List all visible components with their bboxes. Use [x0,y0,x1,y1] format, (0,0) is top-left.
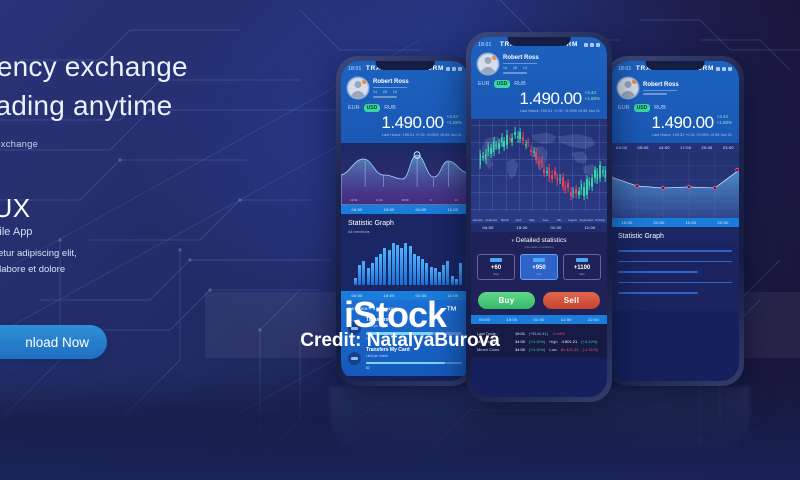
stat-sep-month: Sep [480,272,512,276]
bar-21 [438,272,441,285]
bar-1 [354,278,357,285]
gridline-v-6 [559,119,560,211]
candle-October-2 [605,166,607,182]
bar-8 [383,248,386,285]
right-axis-bottom-1: 01:00 [643,218,675,227]
right-line-4 [618,282,732,284]
month-label-October: October [594,218,607,222]
candle-April-4 [530,145,532,155]
candle-May-4 [543,165,545,177]
stat-cap-icon [533,258,545,262]
candle-March-3 [514,127,516,139]
bar-10 [392,243,395,285]
avatar-body-icon [621,91,635,98]
payment-row-my-card-slider[interactable] [366,362,462,365]
right-area-fill [611,170,739,218]
left-user-line-2 [373,96,397,98]
right-axis-top-5: 23:00 [718,143,739,152]
center-last-hours: Last Hours: 199.31 +0.31 +0.05% 19:55 Ja… [478,109,600,113]
candle-May-3 [541,156,543,168]
month-label-March: March [498,218,512,222]
stat-cap-icon [576,258,588,262]
candle-February-0 [493,137,495,156]
left-currency-switch[interactable]: EUR USD RUB [348,104,462,112]
right-axis-bottom-3: 22:00 [707,218,739,227]
candle-July-2 [565,181,567,194]
right-line-3 [618,271,698,273]
candle-September-2 [591,174,593,192]
stat-nov-value: +1100 [566,265,598,271]
bar-13 [404,243,407,285]
candle-January-4 [490,144,492,158]
bar-23 [446,261,449,285]
right-user-name: Robert Ross [643,82,732,88]
right-currency-switch[interactable]: EUR USD RUB [618,104,732,112]
center-user-line-1 [503,63,537,65]
bar-11 [396,245,399,285]
month-label-January: January [471,218,485,222]
card-icon [348,352,361,365]
right-price-block: 1.490.00 +3.44 +1.88% [618,114,732,131]
stat-card-sep[interactable]: +60 Sep [477,254,515,280]
candle-April-3 [527,138,529,147]
left-axis-top-3: 11:00 [437,205,469,214]
candle-January-2 [485,149,487,163]
bar-14 [409,246,412,285]
bar-17 [421,259,424,285]
right-price-change: +3.44 +1.88% [717,114,732,125]
stat-card-nov[interactable]: +1100 Nov [563,254,601,280]
phone-right-notch [646,61,705,70]
poster-canvas: urrency exchange , trading anytime ons f… [0,0,800,480]
center-price-block: 1.490.00 +3.44 +1.88% [478,90,600,107]
candle-July-3 [567,179,569,192]
tick-14[interactable]: 14 [503,66,507,70]
center-user-line-2 [503,72,527,74]
center-axis-2: 01:00 [539,223,573,232]
center-axis-3: 11:00 [573,223,607,232]
stat-oct-month: Oct [523,272,555,276]
bar-4 [367,268,370,285]
candle-August-4 [583,182,585,200]
left-wave-chart: 12:00 11:11 16:00 9 14 [341,143,469,205]
right-section-title: Statistic Graph [618,233,732,240]
right-header: 18:01 TRADING PLATFORM Rober [611,61,739,143]
center-change-pct: +1.88% [585,96,600,102]
lorem-line-2: didunt ut labore et dolore [0,262,230,278]
tick-1d[interactable]: 1d [523,66,527,70]
month-label-June: June [539,218,553,222]
wave-label-0: 12:00 [341,198,367,202]
istock-brand: iStock [344,294,446,335]
lorem-line-1: , consectetur adipiscing elit, [0,246,230,262]
right-axis-top-0: 04:00 [611,143,632,152]
left-price-change: +3.44 +1.88% [447,114,462,125]
stat-card-oct[interactable]: +950 Oct [520,254,558,280]
left-bar-chart [348,239,462,285]
candle-August-2 [578,187,580,199]
left-wave-marker-labels: 12:00 11:11 16:00 9 14 [341,198,469,202]
avatar-status-dot [362,79,367,84]
candle-April-2 [525,140,527,148]
center-axis-chart: 04:00 15:00 01:00 11:00 [471,223,607,232]
left-section-sub: All mentions [348,229,462,234]
tick-28[interactable]: 28 [383,90,387,94]
phone-center-notch [508,37,571,46]
avatar-head-icon [625,81,632,88]
month-label-May: May [525,218,539,222]
currency-rub[interactable]: RUB [654,105,666,111]
candle-March-4 [517,131,519,142]
center-axis-1: 15:00 [505,223,539,232]
avatar-head-icon [355,81,362,88]
right-marker-2 [661,186,664,189]
left-axis-top-1: 15:00 [373,205,405,214]
uiux-subtitle: Mobile App [0,226,32,238]
left-user-name: Robert Ross [373,79,462,85]
month-label-April: April [512,218,526,222]
gridline-v-1 [492,119,493,211]
candle-October-0 [599,161,601,182]
marketing-copy: urrency exchange , trading anytime ons f… [0,48,262,150]
candle-July-1 [562,173,564,191]
candle-June-3 [554,167,556,180]
candle-May-0 [533,147,535,158]
left-user-ticks[interactable]: 14 28 1d [373,90,462,94]
bar-19 [430,267,433,285]
avatar-body-icon [351,91,365,98]
bar-16 [417,256,420,285]
candle-May-1 [535,148,537,164]
right-axis-bottom: 15:00 01:00 11:00 22:00 [611,218,739,227]
bar-5 [371,263,374,285]
trademark-icon: ™ [446,305,456,317]
detailed-statistics-sub: Information to analytics [477,245,601,249]
month-label-July: July [552,218,566,222]
candle-January-1 [482,152,484,161]
chevron-down-icon[interactable]: ▾ [512,238,515,244]
lorem-paragraph: , consectetur adipiscing elit, didunt ut… [0,246,230,277]
candle-April-1 [522,132,524,144]
candle-September-0 [586,175,588,199]
currency-usd-selected[interactable]: USD [634,104,651,112]
tick-14[interactable]: 14 [373,90,377,94]
detailed-statistics-header[interactable]: ▾ Detailed statistics [477,237,601,244]
right-statistic-section: Statistic Graph [611,227,739,242]
candle-June-0 [546,167,548,176]
candle-August-3 [581,180,583,195]
right-price-value: 1.490.00 [651,114,713,131]
bar-6 [375,257,378,285]
left-change-pct: +1.88% [447,120,462,126]
avatar-status-dot [632,79,637,84]
currency-eur[interactable]: EUR [478,81,490,87]
candle-June-4 [557,173,559,186]
bar-25 [455,279,458,285]
candle-June-1 [549,164,551,182]
center-user-row[interactable]: Robert Ross 14 28 1d [478,54,600,74]
uiux-block: I/UX Mobile App [0,193,32,238]
avatar[interactable] [478,54,498,74]
left-axis-top-2: 01:00 [405,205,437,214]
stat-oct-value: +950 [523,265,555,271]
gridline-v-5 [546,119,547,211]
bar-24 [451,276,454,285]
headline-line-2: , trading anytime [0,87,262,126]
avatar-body-icon [481,67,495,74]
currency-rub[interactable]: RUB [384,105,396,111]
right-axis-top-1: 09:00 [632,143,653,152]
currency-eur[interactable]: EUR [618,105,630,111]
right-change-pct: +1.88% [717,120,732,126]
right-marker-1 [635,184,638,187]
month-label-February: February [485,218,499,222]
center-user-name: Robert Ross [503,55,600,61]
bar-15 [413,254,416,285]
candle-September-3 [594,166,596,183]
right-axis-bottom-2: 11:00 [675,218,707,227]
payment-row-my-card-desc: Limit per month [366,354,462,358]
tick-1d[interactable]: 1d [393,90,397,94]
payment-row-my-card-value: 82 [366,366,462,370]
avatar-status-dot [492,55,497,60]
center-header: 18:01 TRADING PLATFORM Rober [471,37,607,119]
candle-September-1 [589,177,591,190]
bar-18 [425,263,428,285]
center-user-ticks[interactable]: 14 28 1d [503,66,600,70]
wave-label-3: 9 [418,198,444,202]
left-price-value: 1.490.00 [381,114,443,131]
bar-3 [362,261,365,285]
headline-line-1: urrency exchange [0,48,262,87]
left-last-hours: Last Hours: 199.31 +0.31 +0.05% 19:55 Ja… [348,133,462,137]
right-marker-4 [713,186,716,189]
world-map-watermark [477,125,603,182]
month-label-August: August [566,218,580,222]
center-price-value: 1.490.00 [519,90,581,107]
candle-February-3 [501,133,503,147]
left-user-line-1 [373,87,407,89]
candle-March-1 [509,134,511,143]
bar-12 [400,248,403,285]
center-detailed-statistics: ▾ Detailed statistics Information to ana… [471,232,607,286]
candle-July-4 [570,187,572,200]
candle-April-0 [519,128,521,143]
bar-20 [434,268,437,285]
candle-August-1 [575,185,577,198]
right-line-2 [618,261,732,263]
currency-usd-selected[interactable]: USD [364,104,381,112]
bar-26 [459,263,462,285]
bar-22 [442,265,445,285]
currency-rub[interactable]: RUB [514,81,526,87]
right-marker-3 [687,185,690,188]
left-section-title: Statistic Graph [348,220,462,227]
right-user-row[interactable]: Robert Ross [618,78,732,98]
candle-June-2 [551,170,553,183]
right-axis-top-2: 14:00 [654,143,675,152]
right-axis-top-4: 20:00 [696,143,717,152]
detailed-statistics-title: Detailed statistics [516,237,567,244]
right-axis-top: 04:00 09:00 14:00 17:00 20:00 23:00 [611,143,739,152]
center-currency-switch[interactable]: EUR USD RUB [478,80,600,88]
stat-cards: +60 Sep +950 Oct +1100 Nov [477,254,601,280]
left-axis-top-0: 04:00 [341,205,373,214]
candle-February-1 [495,141,497,150]
bar-9 [388,250,391,285]
avatar[interactable] [348,78,368,98]
candle-March-2 [511,133,513,146]
currency-usd-selected[interactable]: USD [494,80,511,88]
right-axis-top-3: 17:00 [675,143,696,152]
right-user-line-2 [643,93,667,95]
credit-watermark: Credit: NatalyaBurova [0,330,800,352]
candle-May-2 [538,157,540,169]
bar-2 [358,265,361,285]
candle-July-0 [559,174,561,183]
left-statistic-section: Statistic Graph All mentions [341,214,469,291]
left-axis-top: 04:00 15:00 01:00 11:00 [341,205,469,214]
center-candlestick-chart: JanuaryFebruaryMarchAprilMayJuneJulyAugu… [471,119,607,223]
candle-February-2 [498,139,500,153]
bar-7 [379,254,382,285]
right-axis-bottom-0: 15:00 [611,218,643,227]
headline-subcopy: ons for exchange [0,139,262,150]
gridline-v-4 [532,119,533,211]
candle-October-1 [602,166,604,177]
center-axis-0: 04:00 [471,223,505,232]
tick-28[interactable]: 28 [513,66,517,70]
left-user-row[interactable]: Robert Ross 14 28 1d [348,78,462,98]
left-header: 18:01 TRADING PLATFORM Rober [341,61,469,143]
wave-label-2: 16:00 [392,198,418,202]
stat-nov-month: Nov [566,272,598,276]
avatar[interactable] [618,78,638,98]
center-month-labels: JanuaryFebruaryMarchAprilMayJuneJulyAugu… [471,218,607,222]
center-price-change: +3.44 +1.88% [585,90,600,101]
wave-label-1: 11:11 [367,198,393,202]
candle-September-4 [597,168,599,184]
avatar-head-icon [485,57,492,64]
candle-January-3 [488,142,490,156]
right-marker-5 [736,168,739,171]
left-price-block: 1.490.00 +3.44 +1.88% [348,114,462,131]
phone-left-notch [376,61,435,70]
candle-August-0 [573,187,575,198]
month-label-September: September [579,218,593,222]
uiux-title: I/UX [0,193,32,224]
candle-January-0 [480,150,482,169]
candle-March-0 [506,130,508,149]
right-line-1 [618,250,732,252]
currency-eur[interactable]: EUR [348,105,360,111]
stat-sep-value: +60 [480,265,512,271]
stat-cap-icon [490,258,502,262]
right-user-line-1 [643,90,677,92]
candle-February-4 [503,137,505,151]
right-last-hours: Last Hours: 199.31 +0.31 +0.05% 19:55 Ja… [618,133,732,137]
right-area-chart [611,152,739,218]
